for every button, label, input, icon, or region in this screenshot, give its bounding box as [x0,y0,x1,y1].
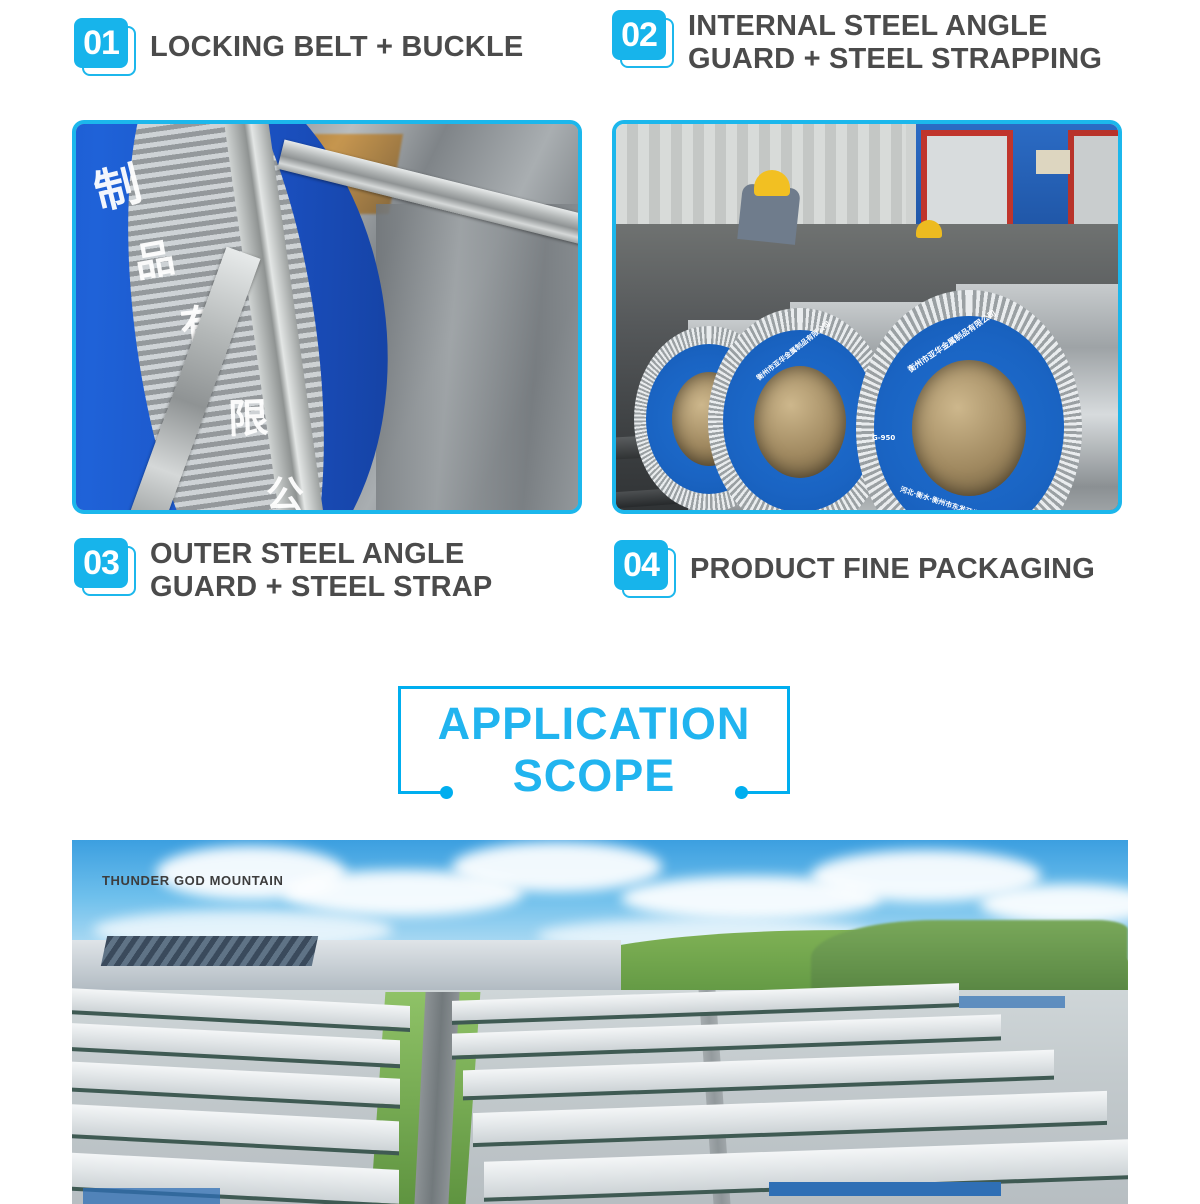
scope-heading: APPLICATION SCOPE [398,698,790,802]
badge-number-01: 01 [74,18,128,68]
feature-heading-02: 02 INTERNAL STEEL ANGLE GUARD + STEEL ST… [612,10,1102,76]
badge-number-03: 03 [74,538,128,588]
facility-aerial-photo: THUNDER GOD MOUNTAIN [72,840,1128,1204]
blue-building-band [83,1188,220,1204]
feature-heading-01: 01 LOCKING BELT + BUCKLE [74,18,523,76]
red-framed-door [1068,130,1118,230]
red-framed-window [921,130,1013,230]
steel-coil-front: 衡州市亚华金属制品有限公司 河北·衡水·衡州市东发开发区 G-950 [856,284,1118,510]
feature-heading-03: 03 OUTER STEEL ANGLE GUARD + STEEL STRAP [74,538,492,604]
feature-badge-04: 04 [614,540,676,598]
label-glyph: 公 [265,463,305,510]
photo-02-content: 衡州市亚华金属制品有限公司 衡州市亚华金属制品有限公司 河北·衡水·衡州市东发开… [616,124,1118,510]
feature-photo-02: 衡州市亚华金属制品有限公司 衡州市亚华金属制品有限公司 河北·衡水·衡州市东发开… [612,120,1122,514]
feature-title-04: PRODUCT FINE PACKAGING [690,540,1095,586]
feature-badge-02: 02 [612,10,674,68]
badge-number-04: 04 [614,540,668,590]
photo-01-content: 制 品 有 限 公 [76,124,578,510]
feature-title-01: LOCKING BELT + BUCKLE [150,18,523,64]
feature-title-03: OUTER STEEL ANGLE GUARD + STEEL STRAP [150,538,492,604]
product-packaging-page: 01 LOCKING BELT + BUCKLE 02 INTERNAL STE… [0,0,1200,1204]
feature-badge-01: 01 [74,18,136,76]
badge-number-02: 02 [612,10,666,60]
distant-blue-roof [100,936,318,966]
wall-sign [1036,150,1070,174]
cloud [452,842,662,892]
scope-frame-top [398,686,790,689]
feature-badge-03: 03 [74,538,136,596]
application-scope-section: APPLICATION SCOPE [398,686,790,794]
feature-photo-01: 制 品 有 限 公 [72,120,582,514]
blue-building-band [769,1182,1001,1196]
steel-sheet-secondary [376,204,578,510]
feature-heading-04: 04 PRODUCT FINE PACKAGING [614,540,1095,598]
feature-title-02: INTERNAL STEEL ANGLE GUARD + STEEL STRAP… [688,10,1102,76]
label-glyph: 限 [227,385,269,444]
aerial-caption: THUNDER GOD MOUNTAIN [102,873,283,888]
blue-building-band [959,996,1065,1008]
